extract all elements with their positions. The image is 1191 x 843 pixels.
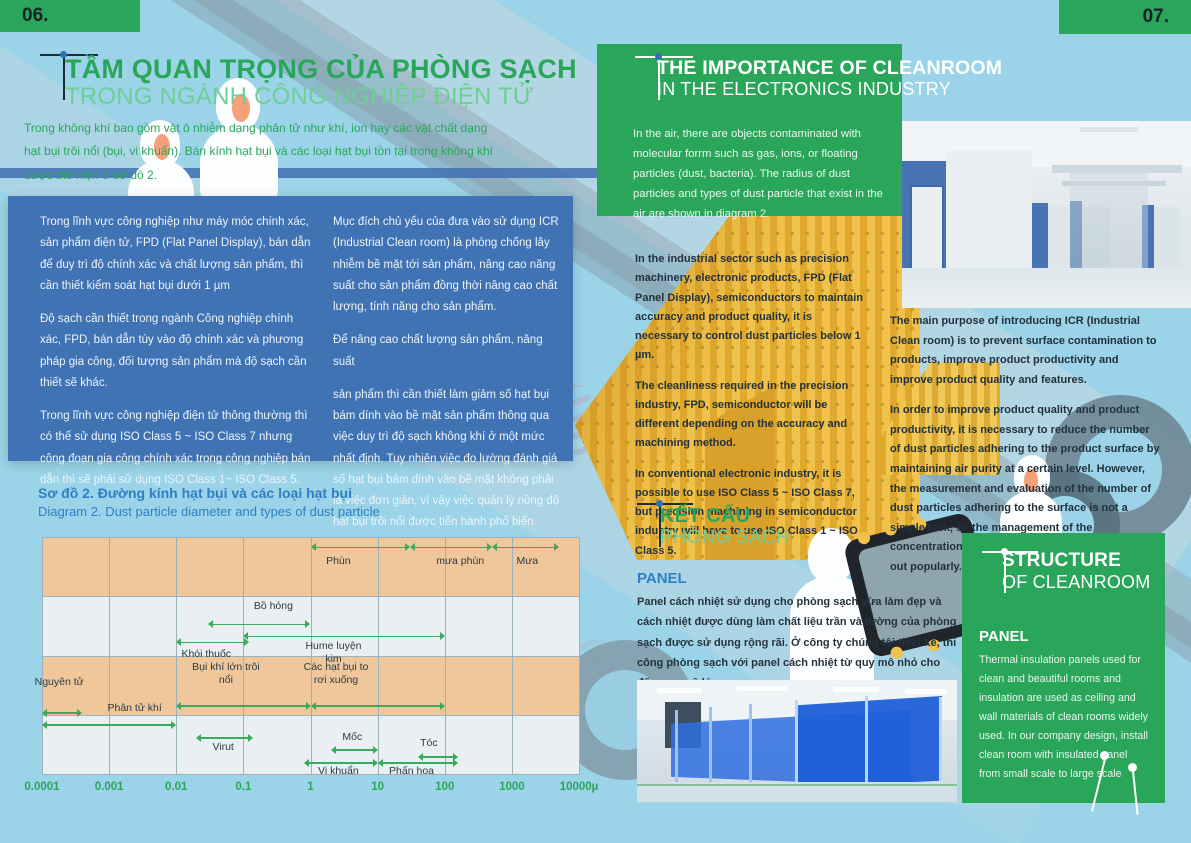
diagram-item-label: Phân tử khí (100, 702, 170, 715)
diagram-range-arrow (492, 543, 559, 551)
structure-panel-paragraph: Thermal insulation panels used for clean… (979, 651, 1151, 784)
diagram-axis-tick: 0.001 (95, 781, 124, 793)
blue-card-column-a: Trong lĩnh vực công nghiệp như máy móc c… (40, 212, 312, 503)
diagram-axis-tick: 10000µ (560, 781, 599, 793)
lead-paragraph-vi: Trong không khí bao gồm vật ô nhiễm dạng… (24, 117, 504, 187)
diagram-cell (513, 657, 580, 716)
section-title-ketcau: KẾT CẤU PHÒNG SẠCH (660, 505, 900, 548)
gold-text-p2: The cleanliness required in the precisio… (635, 377, 867, 454)
diagram-item-label: Khói thuốc (171, 648, 241, 661)
dust-particle-diagram: Phùnmưa phùnMưaBồ hóngHume luyện kimKhói… (42, 537, 579, 774)
structure-card: STRUCTURE OF CLEANROOM PANEL Thermal ins… (962, 533, 1165, 803)
diagram-axis-tick: 0.0001 (24, 781, 59, 793)
diagram-cell (446, 597, 513, 656)
diagram-range-arrow (311, 543, 410, 551)
diagram-range-arrow (243, 632, 444, 640)
diagram-range-arrow (176, 638, 248, 646)
ketcau-line2: PHÒNG SẠCH (660, 527, 900, 548)
diagram-range-arrow (410, 543, 492, 551)
cleanroom-corridor-photo (902, 121, 1191, 308)
diagram-item-label: mưa phùn (425, 555, 495, 568)
page-title-en-line2: IN THE ELECTRONICS INDUSTRY (657, 79, 917, 101)
diagram-axis-tick: 1 (307, 781, 313, 793)
green-card-paragraph: In the air, there are objects contaminat… (633, 124, 883, 224)
right-text-p1: The main purpose of introducing ICR (Ind… (890, 312, 1162, 390)
diagram-title-vi: Sơ đồ 2. Đường kính hạt bụi và các loại … (38, 485, 352, 501)
diagram-axis-tick: 100 (435, 781, 454, 793)
diagram-item-label: Phùn (303, 555, 373, 568)
diagram-cell (513, 716, 580, 775)
diagram-item-label: Mốc (328, 731, 376, 744)
gold-text-p1: In the industrial sector such as precisi… (635, 250, 867, 366)
blue-card-a-p2: Độ sạch cần thiết trong ngành Công nghiệ… (40, 309, 312, 394)
diagram-item-label: Bồ hóng (238, 600, 308, 613)
diagram-cell (110, 538, 177, 597)
diagram-item-label: Virut (196, 741, 250, 754)
page-number-right: 07. (1059, 0, 1191, 34)
diagram-axis-tick: 1000 (499, 781, 525, 793)
diagram-item-label: Nguyên tử (30, 676, 88, 689)
page-title-en-line1: THE IMPORTANCE OF CLEANROOM (657, 58, 917, 79)
blue-card-b-p1: Mục đích chủ yếu của đưa vào sử dụng ICR… (333, 212, 563, 318)
green-heading-card: THE IMPORTANCE OF CLEANROOM IN THE ELECT… (597, 44, 902, 216)
blue-card-a-p1: Trong lĩnh vực công nghiệp như máy móc c… (40, 212, 312, 297)
blue-card-column-b: Mục đích chủ yếu của đưa vào sử dụng ICR… (333, 212, 563, 546)
diagram-item-label: Bụi khí lớn trôi nổi (190, 661, 262, 687)
structure-panel-heading: PANEL (979, 628, 1029, 645)
diagram-axis-tick: 10 (371, 781, 384, 793)
diagram-range-arrow (311, 702, 445, 710)
diagram-item-label: Phấn hoa (381, 765, 443, 778)
diagram-axis-tick: 0.1 (235, 781, 251, 793)
diagram-item-label: Vi khuẩn (307, 765, 369, 778)
structure-line2: OF CLEANROOM (1002, 572, 1172, 593)
page-title-vi: TẦM QUAN TRỌNG CỦA PHÒNG SẠCH TRONG NGÀN… (65, 55, 585, 111)
panel-paragraph-vi: Panel cách nhiệt sử dụng cho phòng sạch … (637, 592, 957, 694)
page-number-left: 06. (0, 0, 140, 32)
diagram-range-arrow (331, 746, 378, 754)
diagram-cell (43, 597, 110, 656)
diagram-item-label: Các hạt bụi to rơi xuống (296, 661, 376, 687)
blue-info-card: Trong lĩnh vực công nghiệp như máy móc c… (8, 196, 573, 461)
diagram-title-en: Diagram 2. Dust particle diameter and ty… (38, 504, 380, 519)
infographic-page: 06. 07. TẦM QUAN TRỌNG CỦA PHÒNG SẠCH TR… (0, 0, 1191, 843)
blue-card-b-p2: Để nâng cao chất lượng sản phẩm, năng su… (333, 330, 563, 373)
diagram-item-label: Tóc (409, 737, 449, 750)
diagram-cell (177, 538, 244, 597)
diagram-cell (379, 597, 446, 656)
diagram-cell (43, 538, 110, 597)
structure-line1: STRUCTURE (1002, 551, 1172, 572)
diagram-cell (244, 716, 311, 775)
diagram-range-arrow (42, 709, 82, 717)
diagram-range-arrow (176, 702, 310, 710)
diagram-cell (110, 597, 177, 656)
diagram-axis-tick: 0.01 (165, 781, 187, 793)
diagram-item-label: Mưa (500, 555, 555, 568)
diagram-cell (446, 657, 513, 716)
diagram-cell (513, 597, 580, 656)
cleanroom-booth-photo (637, 680, 957, 802)
diagram-cell (244, 538, 311, 597)
diagram-range-arrow (42, 721, 176, 729)
blue-card-a-p3: Trong lĩnh vực công nghiệp điện tử thông… (40, 406, 312, 491)
ketcau-line1: KẾT CẤU (660, 505, 900, 527)
page-title-en: THE IMPORTANCE OF CLEANROOM IN THE ELECT… (657, 58, 917, 101)
panel-heading-vi: PANEL (637, 570, 687, 587)
structure-title: STRUCTURE OF CLEANROOM (1002, 551, 1172, 593)
page-title-vi-line1: TẦM QUAN TRỌNG CỦA PHÒNG SẠCH (65, 55, 585, 83)
page-title-vi-line2: TRONG NGÀNH CÔNG NGHIỆP ĐIỆN TỬ (65, 83, 585, 111)
diagram-axis: 0.00010.0010.010.1110100100010000µ (16, 781, 596, 799)
diagram-range-arrow (208, 620, 310, 628)
